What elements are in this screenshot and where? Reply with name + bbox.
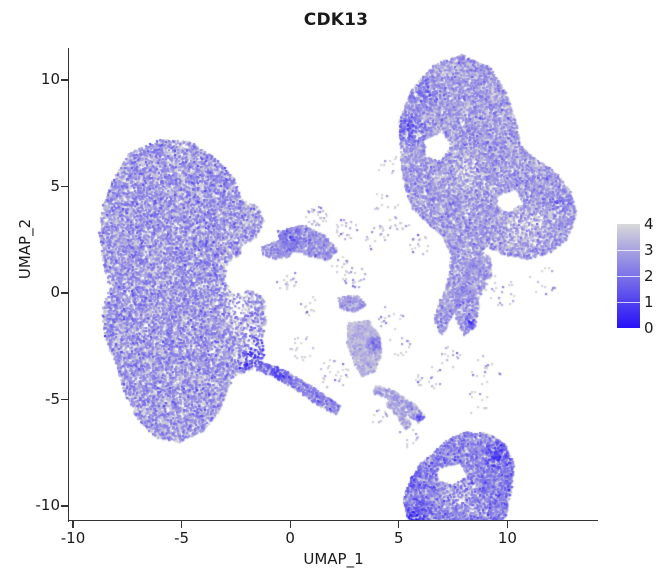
color-legend: 43210: [617, 222, 672, 334]
y-tick-mark: [61, 399, 68, 400]
x-tick-label: -10: [43, 529, 103, 547]
y-tick-mark: [61, 292, 68, 293]
y-tick-label: -5: [20, 390, 60, 408]
colorbar-tick-mark: [617, 276, 640, 277]
x-tick-mark: [398, 521, 399, 528]
umap-feature-plot: CDK13 -10-50510-10-50510 UMAP_1 UMAP_2 4…: [0, 0, 672, 576]
x-tick-label: 0: [260, 529, 320, 547]
scatter-plot-area: [69, 48, 598, 521]
x-tick-label: 10: [477, 529, 537, 547]
y-tick-mark: [61, 79, 68, 80]
y-tick-mark: [61, 505, 68, 506]
y-tick-label: -10: [20, 496, 60, 514]
x-axis-line: [68, 520, 598, 521]
x-tick-mark: [290, 521, 291, 528]
colorbar-tick-mark: [617, 302, 640, 303]
colorbar-tick-label: 1: [644, 293, 670, 311]
y-tick-label: 10: [20, 70, 60, 88]
colorbar-tick-mark: [617, 250, 640, 251]
colorbar-tick-label: 3: [644, 241, 670, 259]
x-axis-label: UMAP_1: [69, 550, 598, 568]
colorbar-gradient: [617, 224, 640, 328]
x-tick-label: -5: [152, 529, 212, 547]
x-tick-mark: [72, 521, 73, 528]
y-tick-mark: [61, 186, 68, 187]
page-title: CDK13: [0, 10, 672, 30]
colorbar-tick-label: 2: [644, 267, 670, 285]
scatter-points-canvas: [69, 48, 598, 521]
x-tick-label: 5: [369, 529, 429, 547]
colorbar-tick-label: 4: [644, 215, 670, 233]
y-axis-label: UMAP_2: [16, 179, 34, 319]
y-axis-line: [68, 48, 69, 522]
colorbar-tick-label: 0: [644, 319, 670, 337]
x-tick-mark: [507, 521, 508, 528]
x-tick-mark: [181, 521, 182, 528]
